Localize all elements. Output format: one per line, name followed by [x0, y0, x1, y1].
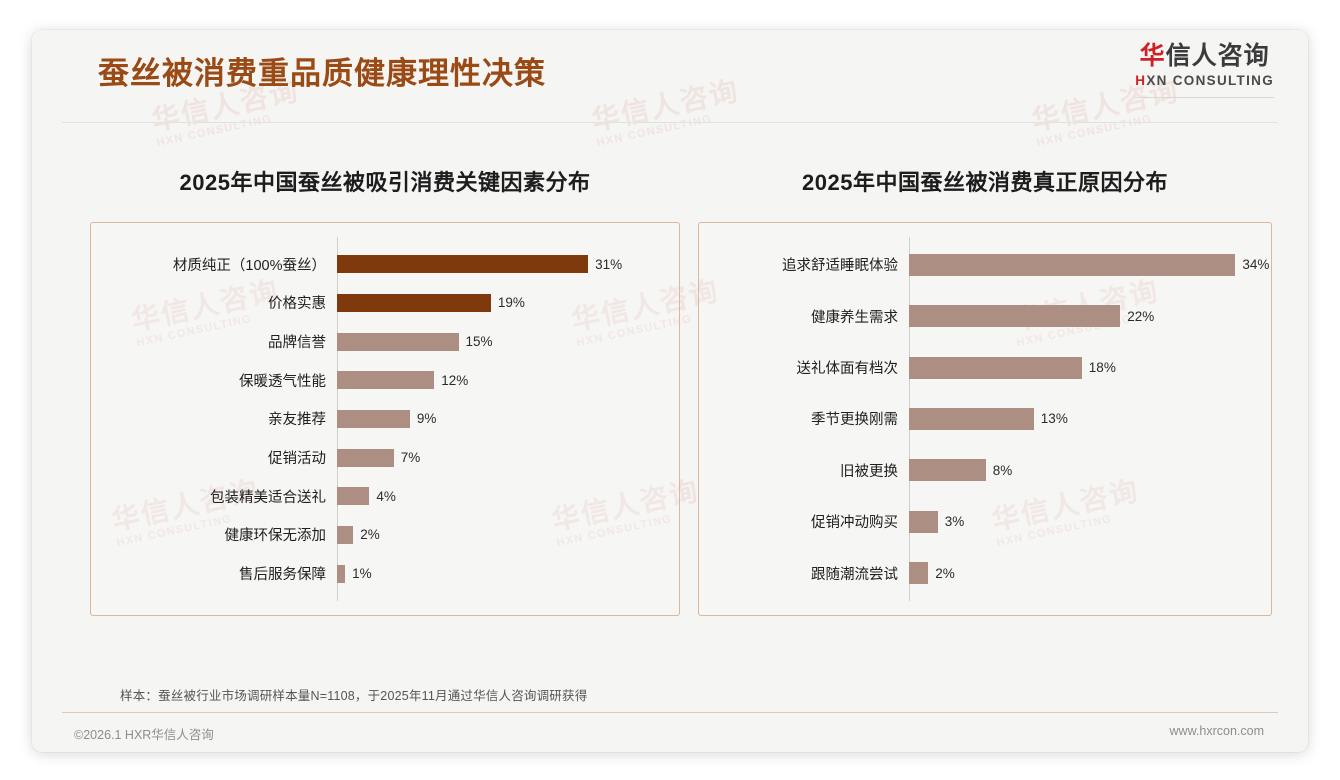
- bar-track: 3%: [909, 511, 1271, 533]
- bar-value-label: 1%: [352, 566, 372, 581]
- bar-row: 保暖透气性能12%: [91, 367, 679, 393]
- bar-row: 健康养生需求22%: [699, 303, 1271, 329]
- logo-cn-rest: 信人咨询: [1166, 42, 1270, 70]
- bar-value-label: 2%: [935, 566, 955, 581]
- bar-track: 22%: [909, 305, 1271, 327]
- bar-segment: [909, 408, 1034, 430]
- bar-segment: [337, 449, 394, 467]
- logo-cn-accent: 华: [1140, 42, 1166, 70]
- bar-plot-left: 材质纯正（100%蚕丝）31%价格实惠19%品牌信誉15%保暖透气性能12%亲友…: [91, 223, 679, 615]
- chart-panel-left: 2025年中国蚕丝被吸引消费关键因素分布 材质纯正（100%蚕丝）31%价格实惠…: [90, 128, 680, 616]
- bar-segment: [909, 562, 928, 584]
- bar-value-label: 19%: [498, 295, 525, 310]
- website-text: www.hxrcon.com: [1170, 724, 1264, 738]
- bar-track: 13%: [909, 408, 1271, 430]
- copyright-text: ©2026.1 HXR华信人咨询: [74, 724, 214, 743]
- bar-category-label: 包装精美适合送礼: [91, 486, 337, 507]
- bar-track: 19%: [337, 294, 679, 312]
- bar-segment: [337, 410, 410, 428]
- bar-category-label: 售后服务保障: [91, 563, 337, 584]
- bar-row: 季节更换刚需13%: [699, 406, 1271, 432]
- bar-value-label: 31%: [595, 257, 622, 272]
- bar-row: 亲友推荐9%: [91, 406, 679, 432]
- bar-value-label: 2%: [360, 527, 380, 542]
- bar-category-label: 旧被更换: [699, 460, 909, 481]
- bar-segment: [909, 511, 938, 533]
- bar-segment: [337, 487, 369, 505]
- bar-row: 品牌信誉15%: [91, 329, 679, 355]
- source-footnote: 样本：蚕丝被行业市场调研样本量N=1108，于2025年11月通过华信人咨询调研…: [120, 685, 587, 704]
- bar-row: 材质纯正（100%蚕丝）31%: [91, 251, 679, 277]
- bar-track: 4%: [337, 487, 679, 505]
- bar-track: 2%: [337, 526, 679, 544]
- bar-value-label: 12%: [441, 373, 468, 388]
- bar-row: 跟随潮流尝试2%: [699, 560, 1271, 586]
- chart-title-left: 2025年中国蚕丝被吸引消费关键因素分布: [90, 128, 680, 194]
- bar-category-label: 品牌信誉: [91, 331, 337, 352]
- bar-track: 1%: [337, 565, 679, 583]
- bar-track: 31%: [337, 255, 679, 273]
- bar-value-label: 8%: [993, 463, 1013, 478]
- bar-category-label: 追求舒适睡眠体验: [699, 254, 909, 275]
- bar-row: 促销冲动购买3%: [699, 509, 1271, 535]
- bar-track: 2%: [909, 562, 1271, 584]
- bar-track: 8%: [909, 459, 1271, 481]
- bar-track: 15%: [337, 333, 679, 351]
- bar-value-label: 13%: [1041, 411, 1068, 426]
- bar-category-label: 促销活动: [91, 447, 337, 468]
- bar-segment: [909, 357, 1082, 379]
- bar-category-label: 跟随潮流尝试: [699, 563, 909, 584]
- bar-value-label: 9%: [417, 411, 437, 426]
- chart-title-right: 2025年中国蚕丝被消费真正原因分布: [698, 128, 1272, 194]
- bar-category-label: 保暖透气性能: [91, 370, 337, 391]
- bar-row: 旧被更换8%: [699, 457, 1271, 483]
- slide-card: 华信人咨询 HXN CONSULTING 华信人咨询 HXN CONSULTIN…: [32, 30, 1308, 752]
- logo-underline: [1135, 97, 1274, 98]
- bar-value-label: 15%: [466, 334, 493, 349]
- logo-en-accent: H: [1135, 73, 1146, 88]
- bar-segment: [337, 526, 353, 544]
- logo-english: HXN CONSULTING: [1135, 74, 1274, 88]
- bar-row: 售后服务保障1%: [91, 561, 679, 587]
- bar-category-label: 亲友推荐: [91, 408, 337, 429]
- bar-segment: [909, 459, 986, 481]
- bar-segment: [337, 371, 434, 389]
- logo-chinese: 华信人咨询: [1135, 44, 1274, 69]
- bar-category-label: 季节更换刚需: [699, 408, 909, 429]
- bar-segment: [337, 294, 491, 312]
- slide-footer: ©2026.1 HXR华信人咨询 www.hxrcon.com: [32, 718, 1308, 752]
- bar-track: 34%: [909, 254, 1271, 276]
- bar-value-label: 4%: [376, 489, 396, 504]
- bar-segment: [337, 565, 345, 583]
- bar-value-label: 7%: [401, 450, 421, 465]
- chart-frame-right: 追求舒适睡眠体验34%健康养生需求22%送礼体面有档次18%季节更换刚需13%旧…: [698, 222, 1272, 616]
- bar-value-label: 18%: [1089, 360, 1116, 375]
- bar-category-label: 价格实惠: [91, 292, 337, 313]
- header-divider: [62, 122, 1278, 123]
- bar-track: 7%: [337, 449, 679, 467]
- bar-row: 促销活动7%: [91, 445, 679, 471]
- bar-value-label: 22%: [1127, 309, 1154, 324]
- bar-category-label: 健康养生需求: [699, 306, 909, 327]
- chart-frame-left: 材质纯正（100%蚕丝）31%价格实惠19%品牌信誉15%保暖透气性能12%亲友…: [90, 222, 680, 616]
- bar-category-label: 健康环保无添加: [91, 524, 337, 545]
- bar-row: 追求舒适睡眠体验34%: [699, 252, 1271, 278]
- bar-track: 18%: [909, 357, 1271, 379]
- bar-row: 健康环保无添加2%: [91, 522, 679, 548]
- bar-track: 12%: [337, 371, 679, 389]
- bar-category-label: 促销冲动购买: [699, 511, 909, 532]
- bar-value-label: 3%: [945, 514, 965, 529]
- bar-value-label: 34%: [1242, 257, 1269, 272]
- bar-row: 包装精美适合送礼4%: [91, 483, 679, 509]
- chart-panel-right: 2025年中国蚕丝被消费真正原因分布 追求舒适睡眠体验34%健康养生需求22%送…: [698, 128, 1272, 616]
- bar-segment: [337, 255, 588, 273]
- bar-plot-right: 追求舒适睡眠体验34%健康养生需求22%送礼体面有档次18%季节更换刚需13%旧…: [699, 223, 1271, 615]
- bar-row: 价格实惠19%: [91, 290, 679, 316]
- bar-category-label: 材质纯正（100%蚕丝）: [91, 254, 337, 275]
- bar-segment: [337, 333, 459, 351]
- bar-segment: [909, 254, 1235, 276]
- bar-row: 送礼体面有档次18%: [699, 355, 1271, 381]
- bar-category-label: 送礼体面有档次: [699, 357, 909, 378]
- slide-header: 蚕丝被消费重品质健康理性决策 华信人咨询 HXN CONSULTING: [32, 30, 1308, 128]
- bar-segment: [909, 305, 1120, 327]
- footer-divider: [62, 712, 1278, 713]
- logo-en-rest: XN CONSULTING: [1146, 73, 1274, 88]
- page-title: 蚕丝被消费重品质健康理性决策: [98, 58, 546, 89]
- brand-logo: 华信人咨询 HXN CONSULTING: [1135, 44, 1274, 98]
- bar-track: 9%: [337, 410, 679, 428]
